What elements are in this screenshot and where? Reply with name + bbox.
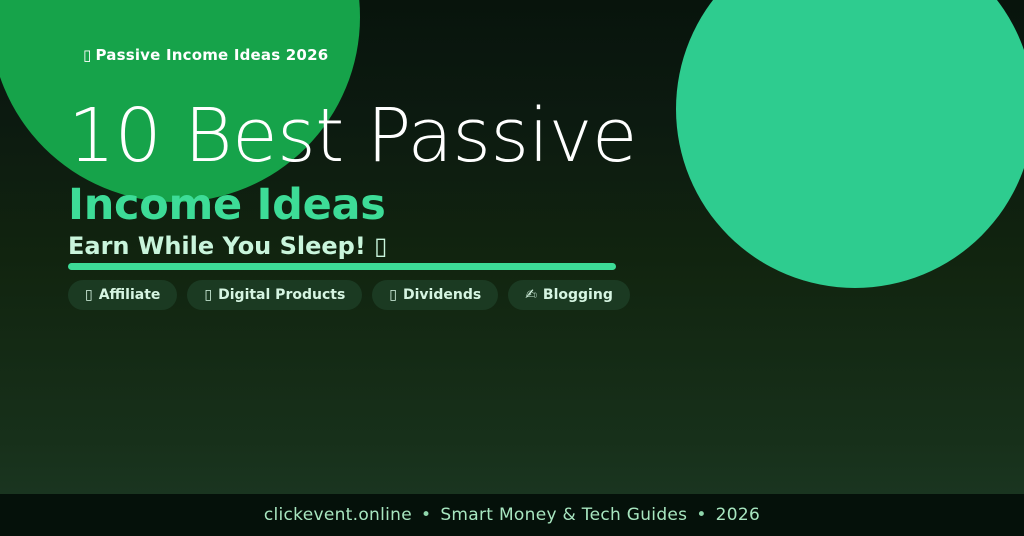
tag-pill-label: Digital Products: [218, 287, 345, 303]
decorative-circle-top-right: [676, 0, 1024, 288]
tag-pill-label: Affiliate: [99, 287, 161, 303]
tag-pill-label: Blogging: [543, 287, 613, 303]
footer-credit-line: clickevent.online•Smart Money & Tech Gui…: [264, 505, 760, 525]
tagline-text: Earn While You Sleep! ▯: [68, 230, 387, 262]
footer-site-name: clickevent.online: [264, 505, 412, 525]
tag-pill-affiliate[interactable]: ▯ Affiliate: [68, 280, 177, 310]
eyebrow-label: ▯Passive Income Ideas 2026: [83, 46, 328, 64]
thumbnail-canvas: ▯Passive Income Ideas 2026 10 Best Passi…: [0, 0, 1024, 536]
sparkle-icon: ▯: [83, 46, 91, 64]
money-icon: ▯: [389, 288, 397, 302]
footer-separator-dot: •: [421, 505, 431, 525]
footer-year: 2026: [716, 505, 760, 525]
box-icon: ▯: [204, 288, 212, 302]
tag-pill-dividends[interactable]: ▯ Dividends: [372, 280, 498, 310]
headline-primary: 10 Best Passive: [68, 93, 637, 179]
eyebrow-text: Passive Income Ideas 2026: [95, 46, 328, 64]
writing-hand-icon: ✍: [525, 288, 537, 302]
footer-bar: clickevent.online•Smart Money & Tech Gui…: [0, 494, 1024, 536]
tag-pill-blogging[interactable]: ✍ Blogging: [508, 280, 630, 310]
footer-tagline: Smart Money & Tech Guides: [440, 505, 687, 525]
tag-pill-digital-products[interactable]: ▯ Digital Products: [187, 280, 362, 310]
tag-pill-label: Dividends: [403, 287, 481, 303]
tag-pill-row: ▯ Affiliate ▯ Digital Products ▯ Dividen…: [68, 280, 630, 310]
footer-separator-dot: •: [696, 505, 706, 525]
headline-secondary: Income Ideas: [68, 180, 386, 230]
accent-underline-bar: [68, 263, 616, 270]
link-icon: ▯: [85, 288, 93, 302]
